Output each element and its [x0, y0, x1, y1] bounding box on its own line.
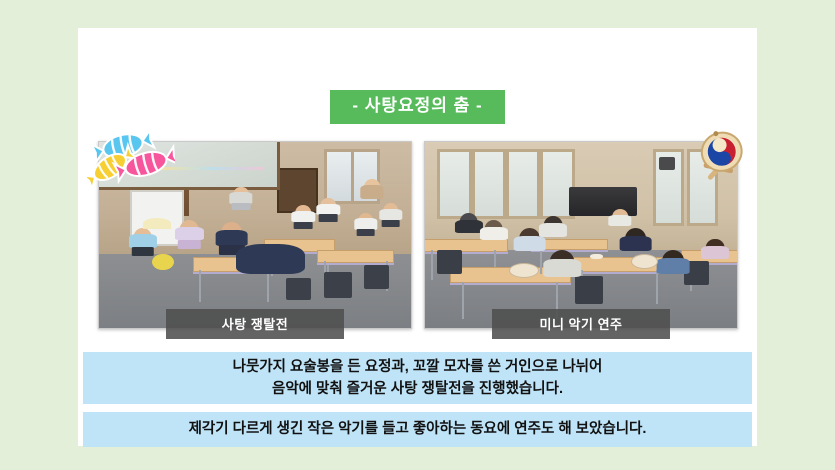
- photo-row: 사탕 쟁탈전: [98, 141, 738, 329]
- photo-card-candy-game[interactable]: 사탕 쟁탈전: [98, 141, 412, 329]
- slide-card: - 사탕요정의 춤 -: [78, 28, 757, 446]
- title-banner: - 사탕요정의 춤 -: [330, 90, 504, 124]
- photo-caption-mini-instruments: 미니 악기 연주: [492, 309, 670, 339]
- description-box-1-line-2: 음악에 맞춰 즐거운 사탕 쟁탈전을 진행했습니다.: [272, 378, 563, 400]
- description-box-1: 나뭇가지 요술봉을 든 요정과, 꼬깔 모자를 쓴 거인으로 나뉘어 음악에 맞…: [83, 352, 752, 404]
- photo-caption-candy-game: 사탕 쟁탈전: [166, 309, 344, 339]
- description-box-1-line-1: 나뭇가지 요술봉을 든 요정과, 꼬깔 모자를 쓴 거인으로 나뉘어: [233, 356, 603, 378]
- korean-drum-icon: [691, 128, 753, 190]
- page-title: - 사탕요정의 춤 -: [78, 90, 757, 124]
- description-box-2-line-1: 제각기 다르게 생긴 작은 악기를 들고 좋아하는 동요에 연주도 해 보았습니…: [189, 418, 647, 440]
- candy-sticker-icon: [87, 130, 175, 192]
- description-box-2: 제각기 다르게 생긴 작은 악기를 들고 좋아하는 동요에 연주도 해 보았습니…: [83, 412, 752, 447]
- photo-card-mini-instruments[interactable]: 미니 악기 연주: [424, 141, 738, 329]
